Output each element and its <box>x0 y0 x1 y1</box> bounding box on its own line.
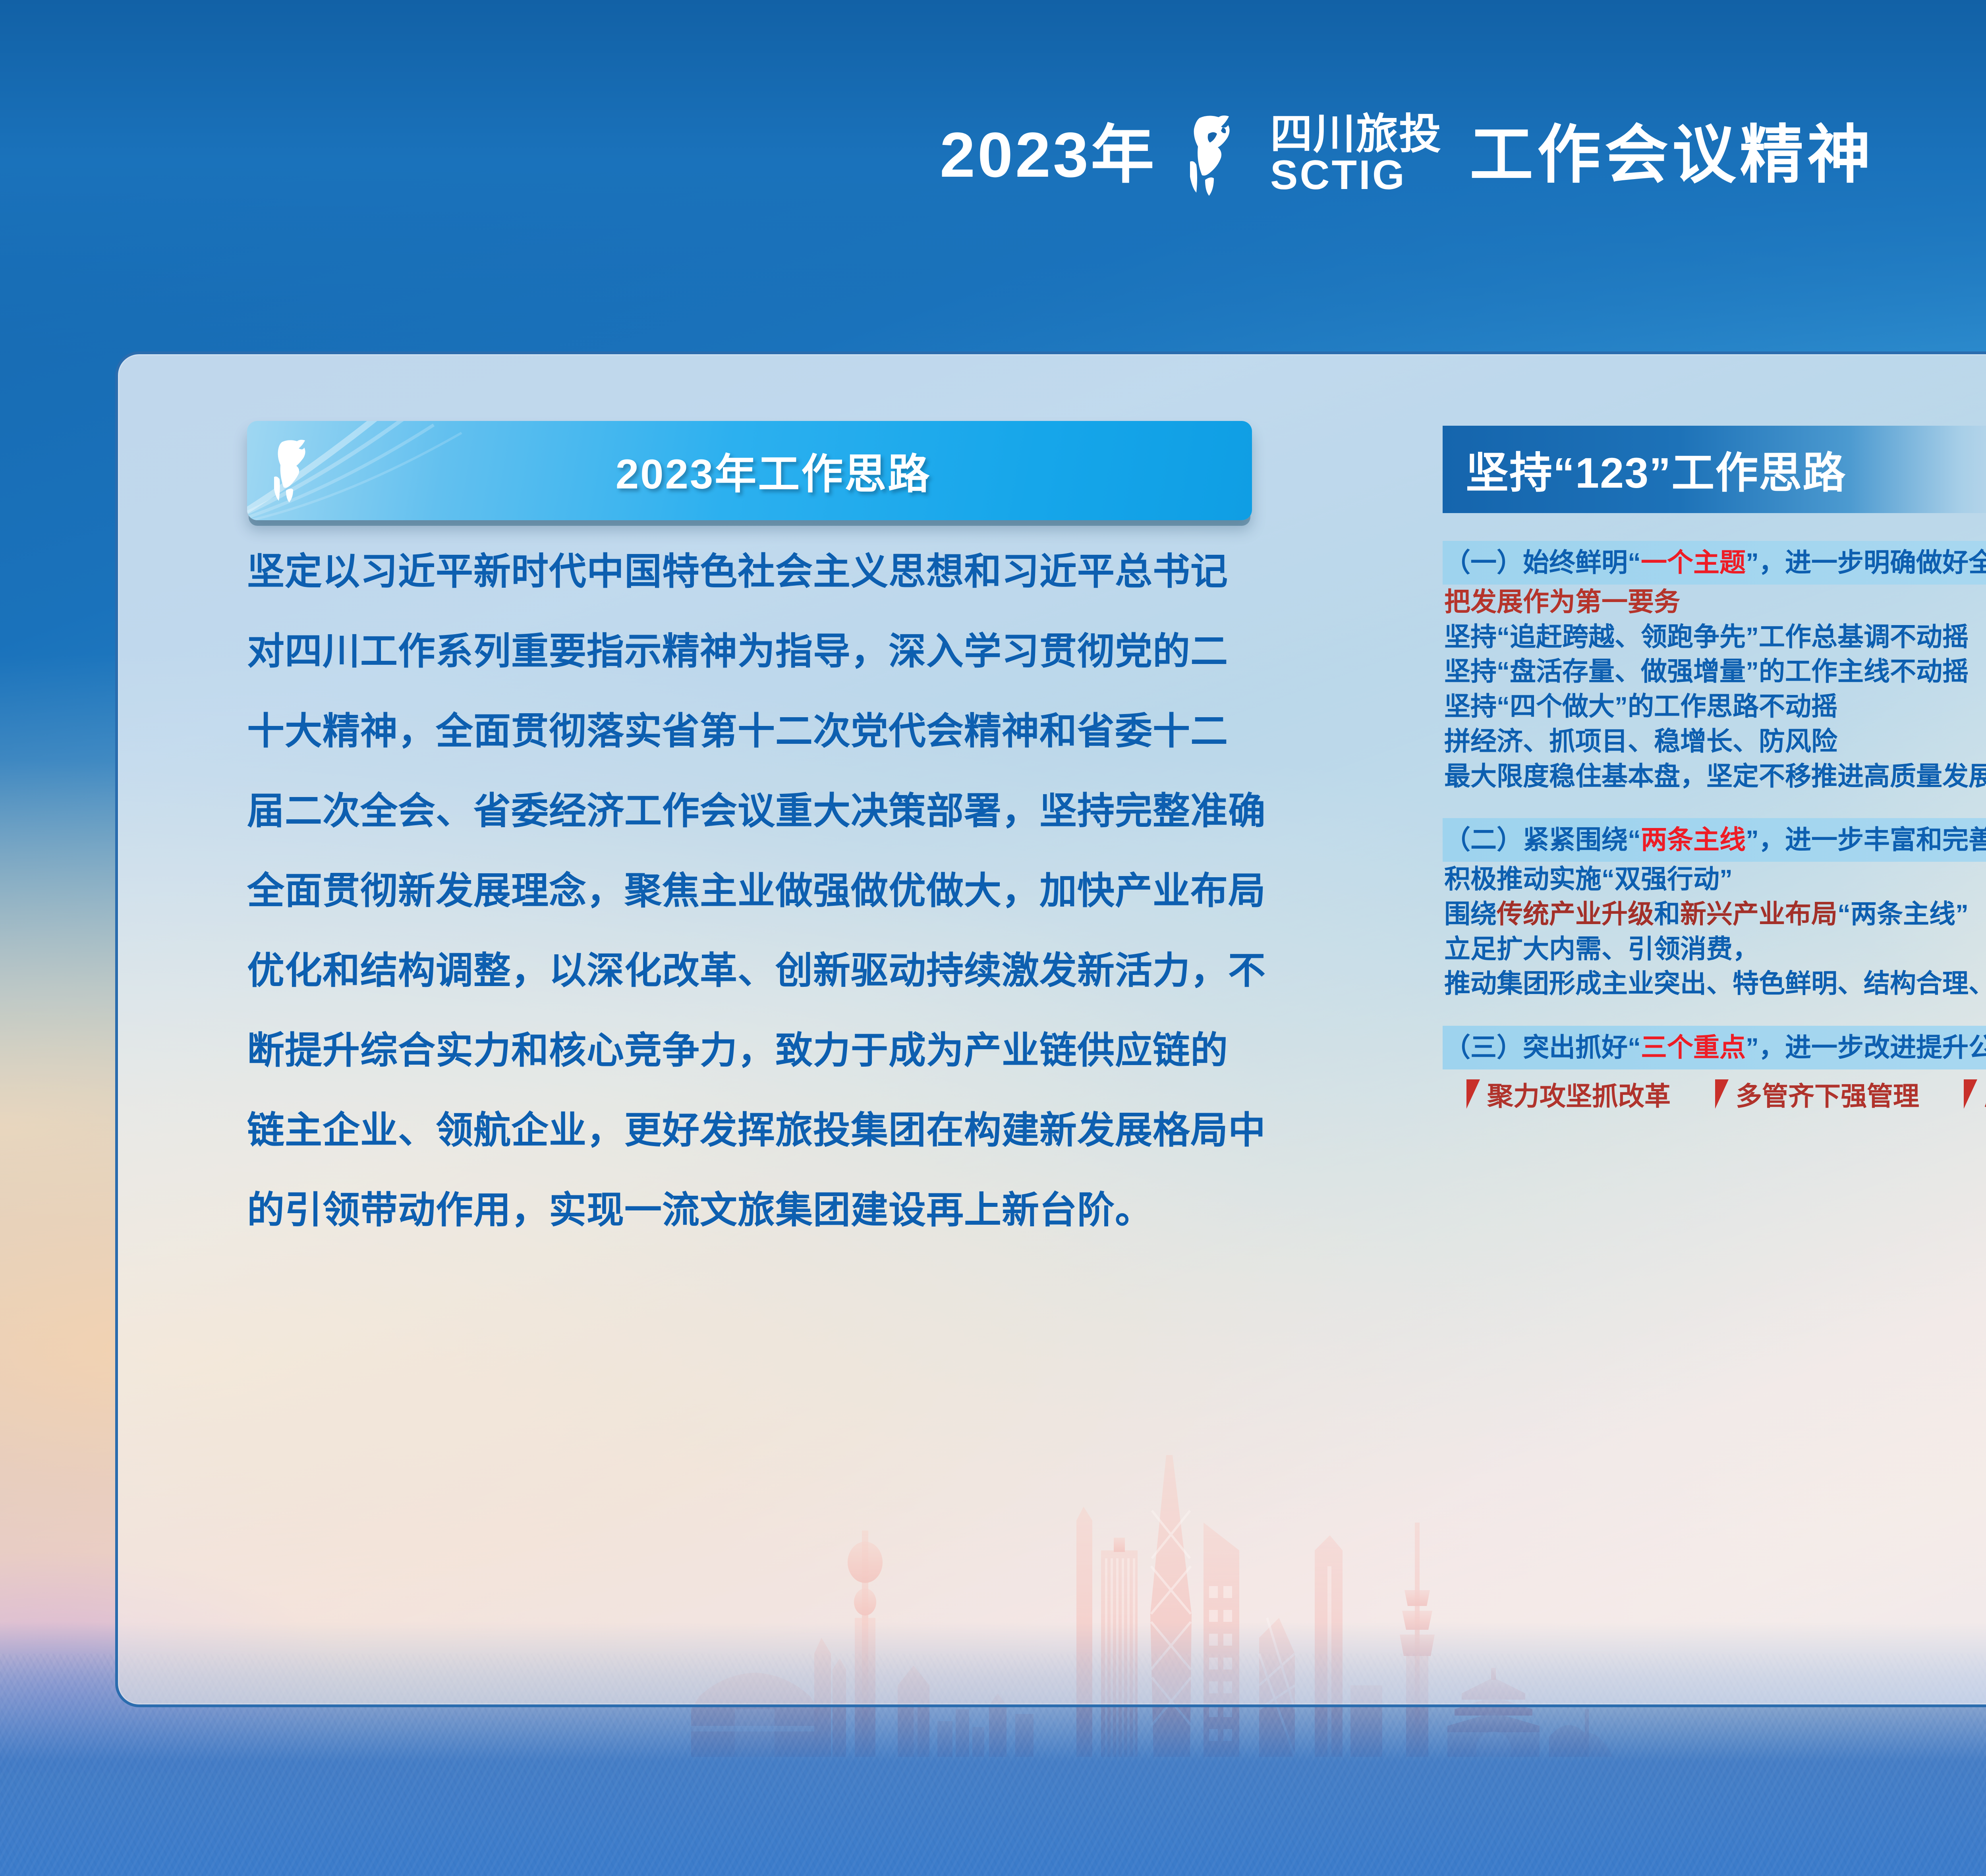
section-one-line: 最大限度稳住基本盘，坚定不移推进高质量发展。 <box>1443 759 1986 794</box>
right-panel-heading-label: 坚持“123”工作思路 <box>1466 438 1846 500</box>
section-three-bullets: 聚力攻坚抓改革 多管齐下强管理 压实责任保安全 <box>1443 1075 1986 1113</box>
left-paragraph-line: 对四川工作系列重要指示精神为指导，深入学习贯彻党的二 <box>247 633 1319 670</box>
page-header: 2023年 四川旅投 SCTIG 工作会议精神 <box>0 91 1986 218</box>
section-one-title: （一）始终鲜明“一个主题”，进一步明确做好全年工作的总体要求 <box>1443 541 1986 585</box>
bullet-label: 压实责任保安全 <box>1984 1075 1986 1113</box>
triangle-bullet-icon <box>1715 1079 1729 1109</box>
right-panel-body: （一）始终鲜明“一个主题”，进一步明确做好全年工作的总体要求 把发展作为第一要务… <box>1443 541 1986 1138</box>
section-one: （一）始终鲜明“一个主题”，进一步明确做好全年工作的总体要求 把发展作为第一要务… <box>1443 541 1986 793</box>
section-two-title: （二）紧紧围绕“两条主线”，进一步丰富和完善集团高质量发展的产业格局 <box>1443 818 1986 862</box>
page-title: 工作会议精神 <box>1470 123 1875 187</box>
section-two-line: 积极推动实施“双强行动” <box>1443 862 1986 897</box>
right-column: 坚持“123”工作思路 （一）始终鲜明“一个主题”，进一步明确做好全年工作的总体… <box>1433 354 1986 1704</box>
bullet-item: 压实责任保安全 <box>1964 1075 1986 1113</box>
section-three-title: （三）突出抓好“三个重点”，进一步改进提升公司治理体系和治理效能 <box>1443 1026 1986 1069</box>
section-one-line: 把发展作为第一要务 <box>1443 585 1986 620</box>
section-one-line: 坚持“盘活存量、做强增量”的工作主线不动摇 <box>1443 654 1986 689</box>
left-panel-heading-bar: 2023年工作思路 <box>247 421 1252 520</box>
section-one-line: 拼经济、抓项目、稳增长、防风险 <box>1443 724 1986 759</box>
logo-chinese-name: 四川旅投 <box>1270 114 1442 155</box>
left-column: 2023年工作思路 坚定以习近平新时代中国特色社会主义思想和习近平总书记 对四川… <box>118 354 1433 1704</box>
globe-logo-icon <box>1184 113 1260 197</box>
left-paragraph-line: 十大精神，全面贯彻落实省第十二次党代会精神和省委十二 <box>247 712 1319 750</box>
logo-wordmark: 四川旅投 SCTIG <box>1270 114 1442 196</box>
section-one-line: 坚持“追赶跨越、领跑争先”工作总基调不动摇 <box>1443 620 1986 654</box>
bullet-item: 聚力攻坚抓改革 <box>1466 1075 1671 1113</box>
left-panel-body: 坚定以习近平新时代中国特色社会主义思想和习近平总书记 对四川工作系列重要指示精神… <box>247 553 1319 1271</box>
left-paragraph-line: 链主企业、领航企业，更好发挥旅投集团在构建新发展格局中 <box>247 1112 1319 1149</box>
section-two-line: 推动集团形成主业突出、特色鲜明、结构合理、发展协同的产业格局。 <box>1443 966 1986 1001</box>
bullet-label: 多管齐下强管理 <box>1736 1075 1919 1113</box>
triangle-bullet-icon <box>1964 1079 1977 1109</box>
section-one-highlight: 一个主题 <box>1641 548 1746 577</box>
section-two-line-mixed: 围绕传统产业升级和新兴产业布局“两条主线” <box>1443 897 1986 932</box>
bullet-label: 聚力攻坚抓改革 <box>1487 1075 1671 1113</box>
triangle-bullet-icon <box>1466 1079 1480 1109</box>
content-card: 2023年工作思路 坚定以习近平新时代中国特色社会主义思想和习近平总书记 对四川… <box>115 351 1986 1707</box>
logo-english-name: SCTIG <box>1270 155 1406 196</box>
brand-logo: 四川旅投 SCTIG <box>1184 113 1442 197</box>
section-two: （二）紧紧围绕“两条主线”，进一步丰富和完善集团高质量发展的产业格局 积极推动实… <box>1443 818 1986 1001</box>
globe-icon <box>270 439 330 502</box>
header-year: 2023年 <box>940 123 1157 187</box>
bullet-item: 多管齐下强管理 <box>1715 1075 1919 1113</box>
left-paragraph-line: 届二次全会、省委经济工作会议重大决策部署，坚持完整准确 <box>247 792 1319 830</box>
section-two-highlight: 两条主线 <box>1641 825 1746 854</box>
right-panel-heading-bar: 坚持“123”工作思路 <box>1443 426 1986 513</box>
left-paragraph-line: 的引领带动作用，实现一流文旅集团建设再上新台阶。 <box>247 1191 1319 1229</box>
left-paragraph-line: 全面贯彻新发展理念，聚焦主业做强做优做大，加快产业布局 <box>247 872 1319 909</box>
section-three: （三）突出抓好“三个重点”，进一步改进提升公司治理体系和治理效能 聚力攻坚抓改革… <box>1443 1026 1986 1113</box>
left-paragraph-line: 优化和结构调整，以深化改革、创新驱动持续激发新活力，不 <box>247 952 1319 989</box>
section-two-line: 立足扩大内需、引领消费， <box>1443 932 1986 967</box>
left-paragraph-line: 坚定以习近平新时代中国特色社会主义思想和习近平总书记 <box>247 553 1319 590</box>
section-one-line: 坚持“四个做大”的工作思路不动摇 <box>1443 689 1986 724</box>
section-three-highlight: 三个重点 <box>1641 1033 1746 1062</box>
left-paragraph-line: 断提升综合实力和核心竞争力，致力于成为产业链供应链的 <box>247 1032 1319 1069</box>
